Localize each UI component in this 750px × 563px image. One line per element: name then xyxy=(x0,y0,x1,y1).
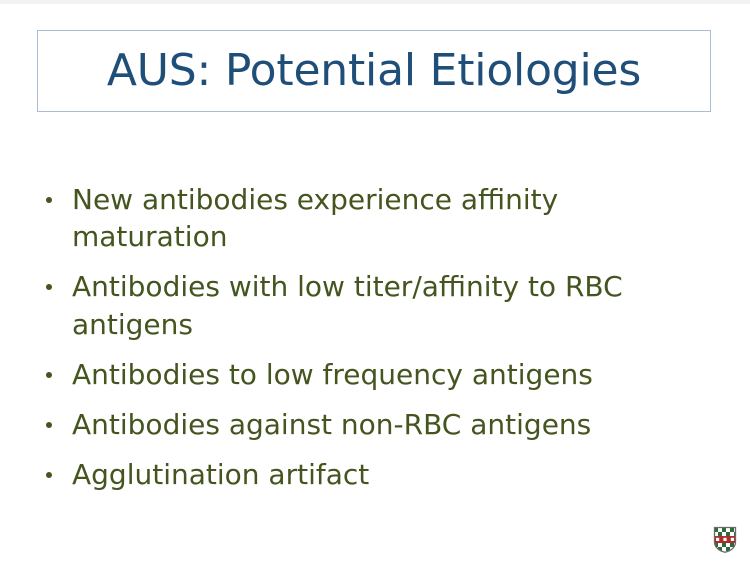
list-item: Agglutination artifact xyxy=(40,456,722,493)
list-item-label: Antibodies against non-RBC antigens xyxy=(72,406,722,443)
bullet-dot-icon xyxy=(46,284,52,290)
page-title: AUS: Potential Etiologies xyxy=(107,48,641,94)
top-edge-band xyxy=(0,0,750,4)
list-item-label: Agglutination artifact xyxy=(72,456,722,493)
bullet-dot-icon xyxy=(46,422,52,428)
slide-canvas: AUS: Potential Etiologies New antibodies… xyxy=(0,0,750,563)
bullet-list: New antibodies experience affinity matur… xyxy=(40,181,722,494)
shield-crest-logo xyxy=(713,526,737,553)
list-item: Antibodies against non-RBC antigens xyxy=(40,406,722,443)
list-item-label: New antibodies experience affinity matur… xyxy=(72,181,722,255)
list-item: New antibodies experience affinity matur… xyxy=(40,181,722,255)
list-item: Antibodies to low frequency antigens xyxy=(40,356,722,393)
bullet-dot-icon xyxy=(46,472,52,478)
bullet-dot-icon xyxy=(46,197,52,203)
list-item: Antibodies with low titer/affinity to RB… xyxy=(40,268,722,342)
list-item-label: Antibodies to low frequency antigens xyxy=(72,356,722,393)
list-item-label: Antibodies with low titer/affinity to RB… xyxy=(72,268,722,342)
bullet-dot-icon xyxy=(46,372,52,378)
title-box: AUS: Potential Etiologies xyxy=(37,30,711,112)
